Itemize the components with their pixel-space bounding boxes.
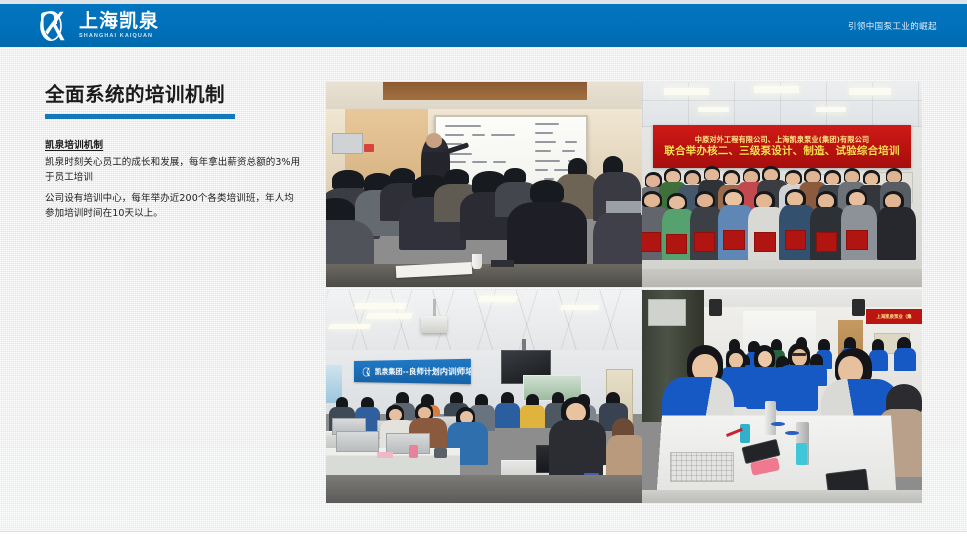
body-paragraph-1: 凯泉时刻关心员工的成长和发展，每年拿出薪资总额的3%用于员工培训	[45, 156, 303, 185]
banner-line-2: 联合举办核二、三级泵设计、制造、试验综合培训	[664, 145, 899, 157]
section-heading: 凯泉培训机制	[45, 137, 303, 151]
blue-banner-text: 凯泉集团--良师计划内训师培训	[375, 366, 471, 378]
photo-workshop-training: 上海凯泉泵业（集	[642, 290, 922, 503]
kaiquan-k-monogram-icon	[38, 11, 72, 41]
blue-banner: 凯泉集团--良师计划内训师培训	[354, 359, 471, 385]
header-bar: 上海凯泉 SHANGHAI KAIQUAN 引领中国泵工业的崛起	[0, 4, 967, 47]
brand-name-en: SHANGHAI KAIQUAN	[79, 34, 159, 40]
photo-grid: 中原对外工程有限公司、上海凯泉泵业(集团)有限公司 联合举办核二、三级泵设计、制…	[326, 82, 922, 503]
body-paragraph-2: 公司设有培训中心，每年举办近200个各类培训班，年人均参加培训时间在10天以上。	[45, 192, 303, 221]
brand-logo-text: 上海凯泉 SHANGHAI KAIQUAN	[79, 12, 159, 40]
wall-red-banner: 上海凯泉泵业（集	[866, 309, 922, 324]
title-underline-rule	[45, 114, 235, 119]
page-title: 全面系统的培训机制	[45, 84, 303, 105]
brand-logo[interactable]: 上海凯泉 SHANGHAI KAIQUAN	[38, 9, 159, 43]
header-slogan: 引领中国泵工业的崛起	[848, 20, 937, 32]
kaiquan-k-monogram-icon	[362, 367, 372, 376]
body-text-block: 凯泉培训机制 凯泉时刻关心员工的成长和发展，每年拿出薪资总额的3%用于员工培训 …	[45, 137, 303, 221]
banner-line-1: 中原对外工程有限公司、上海凯泉泵业(集团)有限公司	[695, 136, 869, 144]
photo-computer-classroom: 凯泉集团--良师计划内训师培训	[326, 290, 644, 503]
photo-lecture-hall	[326, 82, 644, 287]
text-column: 全面系统的培训机制 凯泉培训机制 凯泉时刻关心员工的成长和发展，每年拿出薪资总额…	[45, 84, 303, 228]
red-banner: 中原对外工程有限公司、上海凯泉泵业(集团)有限公司 联合举办核二、三级泵设计、制…	[653, 125, 911, 168]
photo-group-certificate: 中原对外工程有限公司、上海凯泉泵业(集团)有限公司 联合举办核二、三级泵设计、制…	[642, 82, 922, 287]
brand-name-cn: 上海凯泉	[79, 12, 159, 31]
wall-red-banner-text: 上海凯泉泵业（集	[876, 314, 911, 320]
ceiling-projector	[421, 316, 446, 333]
slide: 上海凯泉 SHANGHAI KAIQUAN 引领中国泵工业的崛起 全面系统的培训…	[0, 0, 967, 547]
bottom-edge-strip	[0, 531, 967, 547]
